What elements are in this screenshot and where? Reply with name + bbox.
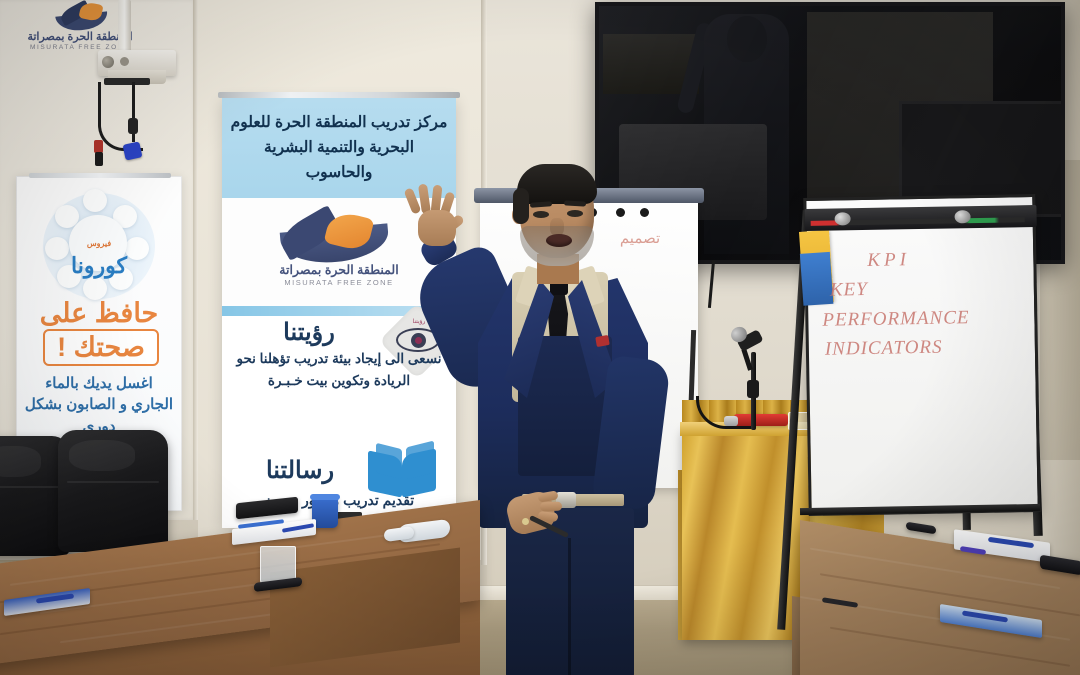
audio-cable-black — [98, 82, 143, 151]
covid-banner-virus-word: كورونا — [17, 253, 181, 279]
kpi-line-4: INDICATORS — [825, 332, 1017, 365]
conference-chair — [58, 430, 168, 552]
marker-tray — [804, 205, 1036, 231]
presenter-trouser-seam — [568, 538, 571, 675]
covid-banner-headline-1: حافظ على — [17, 299, 181, 327]
projector-lens-secondary — [120, 57, 129, 66]
wall-seam — [193, 0, 198, 520]
vga-connector-icon — [123, 141, 143, 160]
banner-logo-arabic: المنطقة الحرة بمصراتة — [271, 262, 407, 277]
photo-scene: المنطقة الحرة بمصراتة MISURATA FREE ZONE — [0, 0, 1080, 675]
presenter-eye-left — [533, 211, 549, 218]
ceiling-projector-mount — [96, 0, 186, 170]
presenter-hair — [517, 164, 597, 204]
presenter-eyebrow-right — [564, 200, 586, 206]
presenter-eye-right — [567, 210, 583, 217]
presenter-mouth — [546, 234, 572, 247]
audio-cable-black-plug-icon — [95, 152, 103, 166]
banner-top-rail — [29, 173, 171, 178]
banner-logo-icon: المنطقة الحرة بمصراتة MISURATA FREE ZONE — [271, 212, 407, 296]
kpi-handwriting: KPI KEY PERFORMANCE INDICATORS — [825, 243, 1017, 364]
presenter-hair-side — [513, 188, 529, 224]
microphone-stand-joint — [747, 380, 759, 398]
kpi-flipchart: KPI KEY PERFORMANCE INDICATORS — [803, 194, 1041, 516]
presenter-ring — [522, 518, 529, 525]
kpi-line-3: PERFORMANCE — [822, 302, 1016, 335]
blue-cup-rim — [310, 494, 340, 500]
covid-banner-headline-2: صحتك ! — [43, 329, 159, 366]
kpi-line-1: KPI — [867, 243, 1015, 275]
presenter-right-hand — [406, 184, 460, 246]
vision-heading: رؤيتنا — [234, 318, 384, 347]
cable-ferrite-bead — [128, 118, 138, 134]
banner-logo-english: MISURATA FREE ZONE — [271, 278, 407, 287]
projector-lens — [102, 56, 114, 68]
covid-banner-body-text: اغسل يديك بالماء الجاري و الصابون بشكل د… — [23, 373, 175, 437]
covid-banner-small-label: فيروس — [17, 239, 181, 248]
kpi-line-2: KEY — [830, 273, 1016, 306]
mission-heading: رسالتنا — [230, 456, 370, 485]
